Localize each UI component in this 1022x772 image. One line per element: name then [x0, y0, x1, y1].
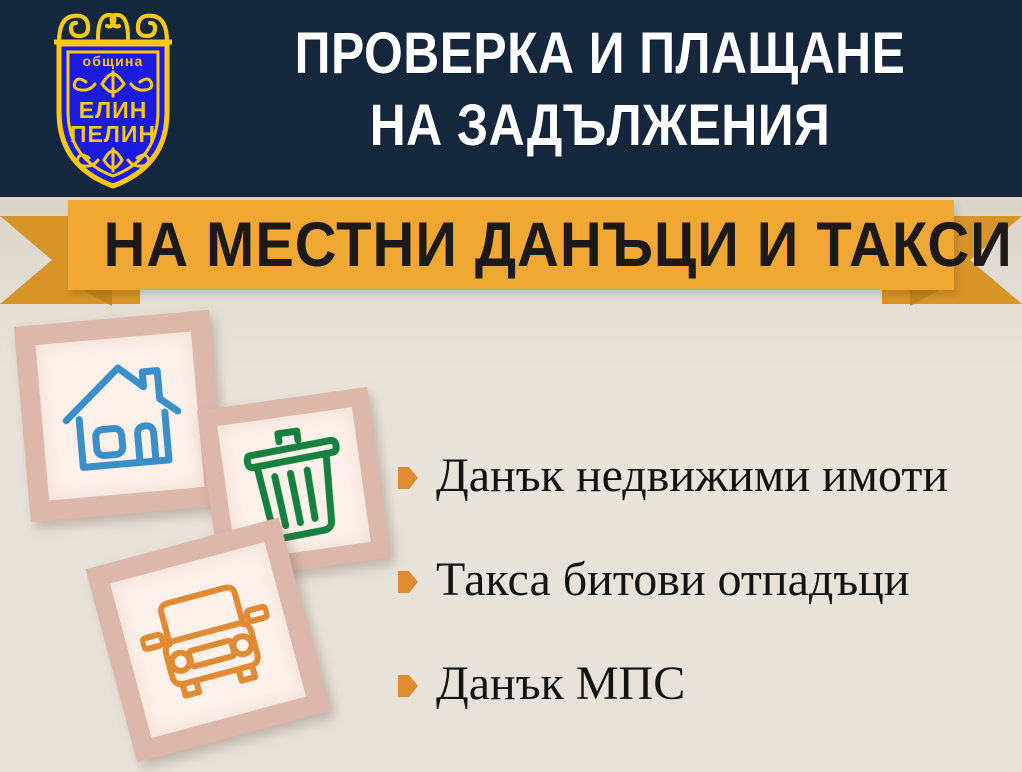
list-item[interactable]: Данък недвижими имоти	[398, 424, 1008, 528]
crest-text-pelin: ПЕЛИН	[70, 121, 156, 147]
bullet-arrow-icon	[398, 571, 418, 593]
bullet-arrow-icon	[398, 675, 418, 697]
tax-type-list: Данък недвижими имоти Такса битови отпад…	[398, 424, 1008, 736]
stamp-card-property	[14, 310, 226, 522]
page-title: ПРОВЕРКА И ПЛАЩАНЕ НА ЗАДЪЛЖЕНИЯ	[247, 18, 952, 162]
list-item-label: Данък МПС	[436, 658, 685, 710]
crest-text-obshtina: община	[82, 53, 143, 69]
list-item-label: Такса битови отпадъци	[436, 554, 910, 606]
ribbon-body: НА МЕСТНИ ДАНЪЦИ И ТАКСИ	[68, 200, 954, 290]
page-title-line-2: НА ЗАДЪЛЖЕНИЯ	[247, 90, 952, 162]
coat-of-arms-icon: община ЕЛИН ПЕЛИН	[42, 8, 184, 190]
poster-root: ПРОВЕРКА И ПЛАЩАНЕ НА ЗАДЪЛЖЕНИЯ община	[0, 0, 1022, 772]
list-item[interactable]: Данък МПС	[398, 632, 1008, 736]
list-item-label: Данък недвижими имоти	[436, 450, 948, 502]
bullet-arrow-icon	[398, 467, 418, 489]
ribbon-banner: НА МЕСТНИ ДАНЪЦИ И ТАКСИ	[0, 196, 1022, 311]
list-item[interactable]: Такса битови отпадъци	[398, 528, 1008, 632]
page-title-line-1: ПРОВЕРКА И ПЛАЩАНЕ	[247, 18, 952, 90]
ribbon-label: НА МЕСТНИ ДАНЪЦИ И ТАКСИ	[103, 209, 918, 281]
crest-text-elin: ЕЛИН	[79, 97, 148, 123]
house-icon	[55, 349, 189, 483]
